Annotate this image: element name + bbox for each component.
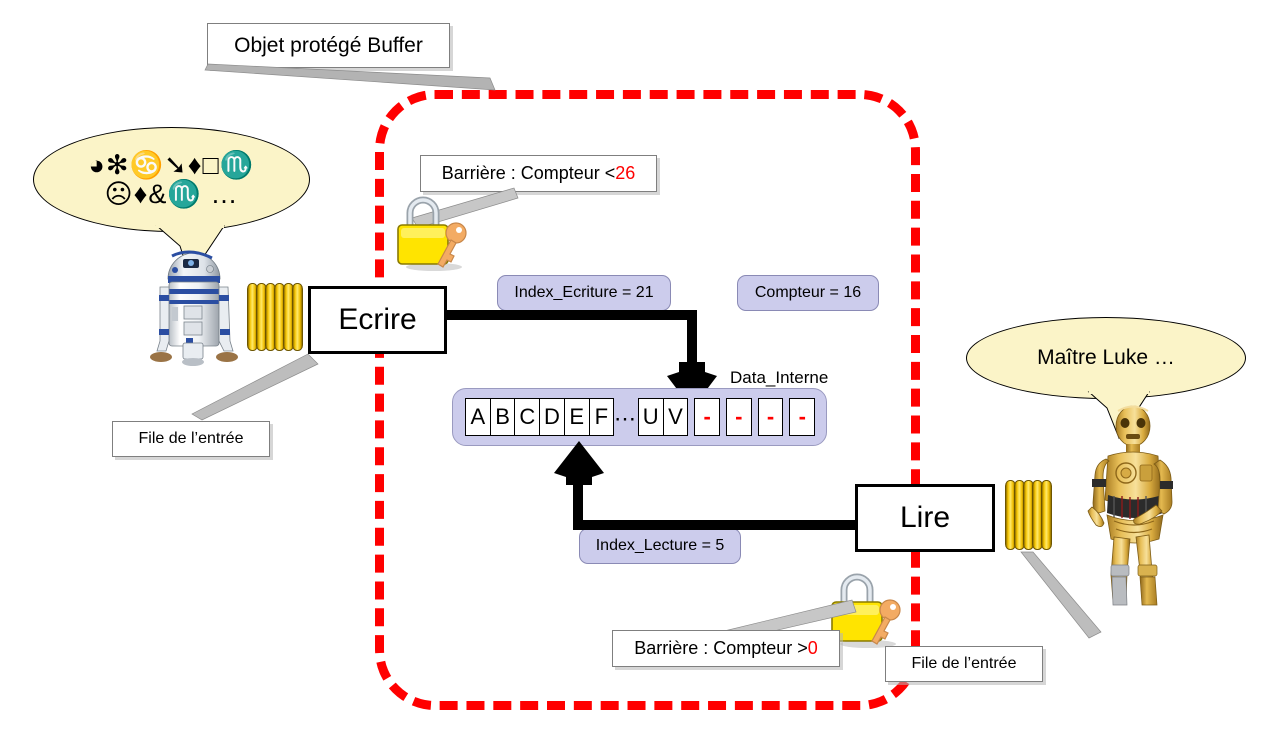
queue-cylinder [1041, 480, 1052, 550]
title-leader-line [200, 60, 500, 95]
r2d2-droid-icon [150, 243, 238, 368]
padlock-key-icon-write [394, 188, 472, 273]
process-box-ecrire[interactable]: Ecrire [308, 286, 447, 354]
array-cell: A [465, 398, 491, 436]
bubble-c3po-line1: Maître Luke … [1037, 346, 1175, 370]
array-cell-empty: - [694, 398, 720, 436]
bubble-r2d2-line2: ☹♦&♏ … [104, 180, 238, 208]
barrier-read-callout: Barrière : Compteur > 0 [612, 630, 840, 667]
speech-bubble-c3po: Maître Luke … [966, 317, 1246, 399]
data-interne-label: Data_Interne [730, 368, 828, 388]
barrier-read-text: Barrière : Compteur > [634, 638, 808, 659]
process-box-lire[interactable]: Lire [855, 484, 995, 552]
data-interne-array: A B C D E F ⋯ U V - - - - [452, 388, 827, 446]
bubble-r2d2-line1: ◕✻♋➘♦□♏ [89, 151, 255, 179]
variable-compteur-text: Compteur = 16 [755, 284, 861, 302]
array-cell: B [490, 398, 516, 436]
input-queue-left [247, 283, 305, 351]
array-ellipsis: ⋯ [613, 398, 638, 436]
speech-bubble-r2d2: ◕✻♋➘♦□♏ ☹♦&♏ … [33, 127, 310, 232]
queue-left-label: File de l’entrée [139, 430, 244, 448]
read-wire-horizontal [573, 520, 858, 530]
title-text: Objet protégé Buffer [234, 34, 423, 58]
variable-index-ecriture: Index_Ecriture = 21 [497, 275, 671, 311]
process-lire-label: Lire [900, 501, 950, 535]
c3po-droid-icon [1078, 403, 1188, 606]
variable-compteur: Compteur = 16 [737, 275, 879, 311]
queue-left-callout: File de l’entrée [112, 421, 270, 457]
variable-index-lecture: Index_Lecture = 5 [579, 528, 741, 564]
barrier-read-value: 0 [808, 638, 818, 659]
variable-index-ecriture-text: Index_Ecriture = 21 [514, 284, 653, 302]
queue-right-label: File de l’entrée [912, 655, 1017, 673]
queue-cylinder [292, 283, 303, 351]
barrier-write-value: 26 [615, 163, 635, 184]
process-ecrire-label: Ecrire [338, 303, 416, 337]
queue-right-callout: File de l’entrée [885, 646, 1043, 682]
diagram-canvas: Objet protégé Buffer ◕✻♋➘♦□♏ ☹♦&♏ … [0, 0, 1274, 741]
array-cell-empty: - [726, 398, 752, 436]
variable-index-lecture-text: Index_Lecture = 5 [596, 537, 725, 555]
read-arrow-head [552, 441, 606, 485]
array-cell: F [589, 398, 615, 436]
array-cell-empty: - [758, 398, 784, 436]
array-cell: D [539, 398, 565, 436]
array-cell: U [638, 398, 664, 436]
queue-left-leader-line [190, 352, 320, 424]
input-queue-right [1005, 480, 1057, 550]
array-cell: E [564, 398, 590, 436]
array-cell: V [663, 398, 689, 436]
array-cell-empty: - [789, 398, 815, 436]
array-cell: C [514, 398, 540, 436]
write-wire-horizontal [447, 310, 697, 320]
barrier-write-text: Barrière : Compteur < [442, 163, 616, 184]
